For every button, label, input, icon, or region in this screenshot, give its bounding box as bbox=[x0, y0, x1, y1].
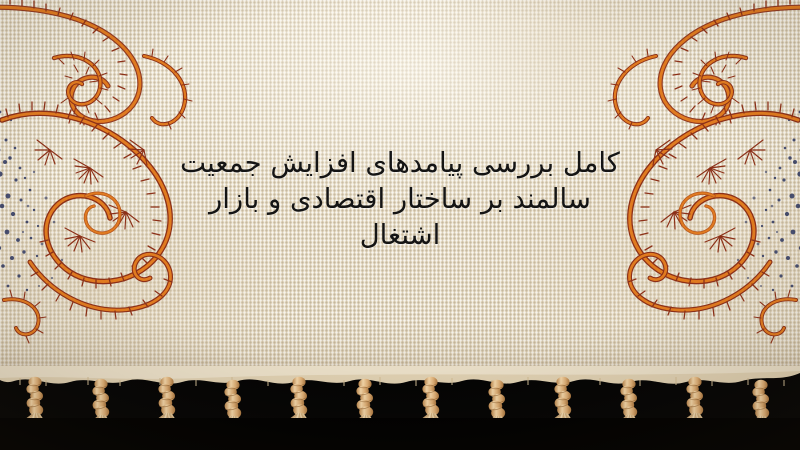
title-line-2: سالمند بر ساختار اقتصادی و بازار bbox=[0, 182, 800, 218]
title-line-1: کامل بررسی پیامدهای افزایش جمعیت bbox=[0, 146, 800, 182]
title-slide: کامل بررسی پیامدهای افزایش جمعیت سالمند … bbox=[0, 0, 800, 450]
title-line-3: اشتغال bbox=[0, 218, 800, 254]
slide-title: کامل بررسی پیامدهای افزایش جمعیت سالمند … bbox=[0, 146, 800, 253]
black-backdrop bbox=[0, 418, 800, 450]
